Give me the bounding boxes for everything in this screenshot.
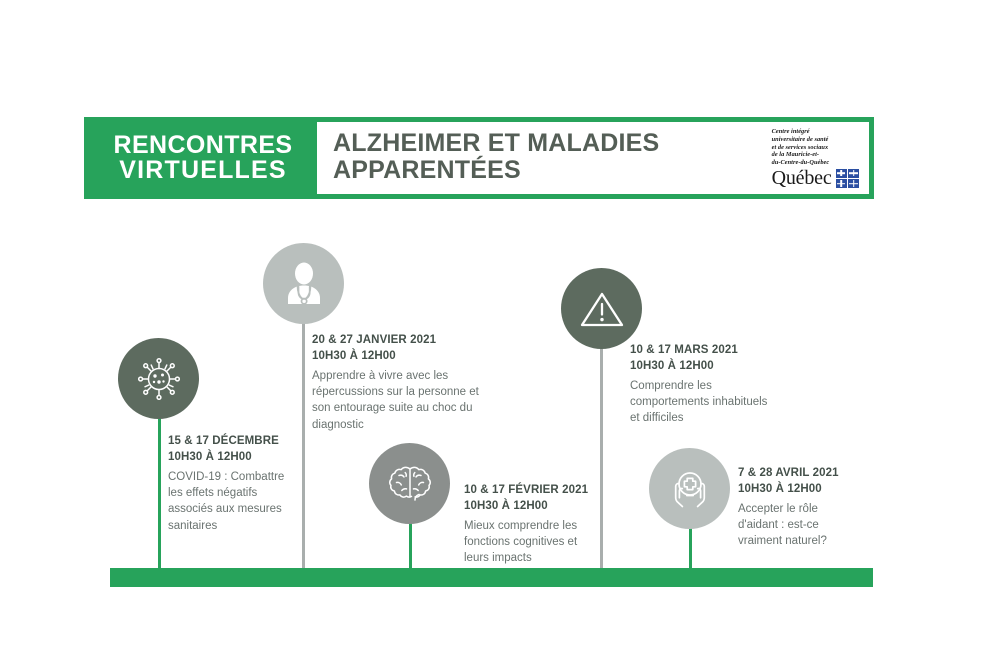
event-block-4: 10 & 17 MARS 2021 10H30 À 12H00 Comprend… — [630, 343, 772, 427]
event-3-date: 10 & 17 FÉVRIER 2021 10H30 À 12H00 — [464, 483, 594, 515]
event-1-date: 15 & 17 DÉCEMBRE 10H30 À 12H00 — [168, 434, 298, 466]
header-banner: RENCONTRES VIRTUELLES ALZHEIMER ET MALAD… — [84, 117, 874, 199]
event-block-1: 15 & 17 DÉCEMBRE 10H30 À 12H00 COVID-19 … — [168, 434, 298, 534]
header-virtuelles-label: VIRTUELLES — [119, 158, 287, 184]
event-2-date: 20 & 27 JANVIER 2021 10H30 À 12H00 — [312, 333, 487, 365]
virus-icon — [135, 355, 183, 403]
timeline-baseline-bar — [110, 568, 873, 587]
quebec-flag-icon — [836, 169, 860, 189]
event-3-description: Mieux comprendre les fonctions cognitive… — [464, 518, 594, 567]
timeline-node-5-caring-hands[interactable] — [649, 448, 730, 529]
event-block-2: 20 & 27 JANVIER 2021 10H30 À 12H00 Appre… — [312, 333, 487, 433]
connector-line-3 — [409, 522, 412, 573]
caring-hands-cross-icon — [664, 463, 716, 515]
brain-icon — [385, 459, 435, 509]
header-right-block: ALZHEIMER ET MALADIES APPARENTÉES Centre… — [317, 122, 869, 194]
event-block-5: 7 & 28 AVRIL 2021 10H30 À 12H00 Accepter… — [738, 466, 853, 550]
event-5-date: 7 & 28 AVRIL 2021 10H30 À 12H00 — [738, 466, 853, 498]
quebec-wordmark: Québec — [772, 168, 832, 188]
logo-wordmark-row: Québec — [772, 168, 859, 188]
event-5-description: Accepter le rôle d'aidant : est-ce vraim… — [738, 501, 853, 550]
connector-line-2 — [302, 322, 305, 573]
connector-line-4 — [600, 348, 603, 573]
event-4-date: 10 & 17 MARS 2021 10H30 À 12H00 — [630, 343, 772, 375]
connector-line-1 — [158, 418, 161, 573]
warning-triangle-icon — [578, 285, 626, 333]
timeline-node-1-virus[interactable] — [118, 338, 199, 419]
timeline-node-4-warning[interactable] — [561, 268, 642, 349]
timeline-node-2-doctor[interactable] — [263, 243, 344, 324]
event-block-3: 10 & 17 FÉVRIER 2021 10H30 À 12H00 Mieux… — [464, 483, 594, 567]
header-rencontres-label: RENCONTRES — [113, 133, 292, 159]
header-left-block: RENCONTRES VIRTUELLES — [89, 122, 317, 194]
quebec-ciusss-logo: Centre intégré universitaire de santé et… — [772, 128, 863, 189]
event-1-description: COVID-19 : Combattre les effets négatifs… — [168, 469, 298, 534]
event-2-description: Apprendre à vivre avec les répercussions… — [312, 368, 487, 433]
page-title: ALZHEIMER ET MALADIES APPARENTÉES — [333, 130, 659, 186]
doctor-icon — [278, 258, 330, 310]
timeline-node-3-brain[interactable] — [369, 443, 450, 524]
event-4-description: Comprendre les comportements inhabituels… — [630, 378, 772, 427]
connector-line-5 — [689, 527, 692, 573]
logo-descriptor-text: Centre intégré universitaire de santé et… — [772, 128, 830, 168]
